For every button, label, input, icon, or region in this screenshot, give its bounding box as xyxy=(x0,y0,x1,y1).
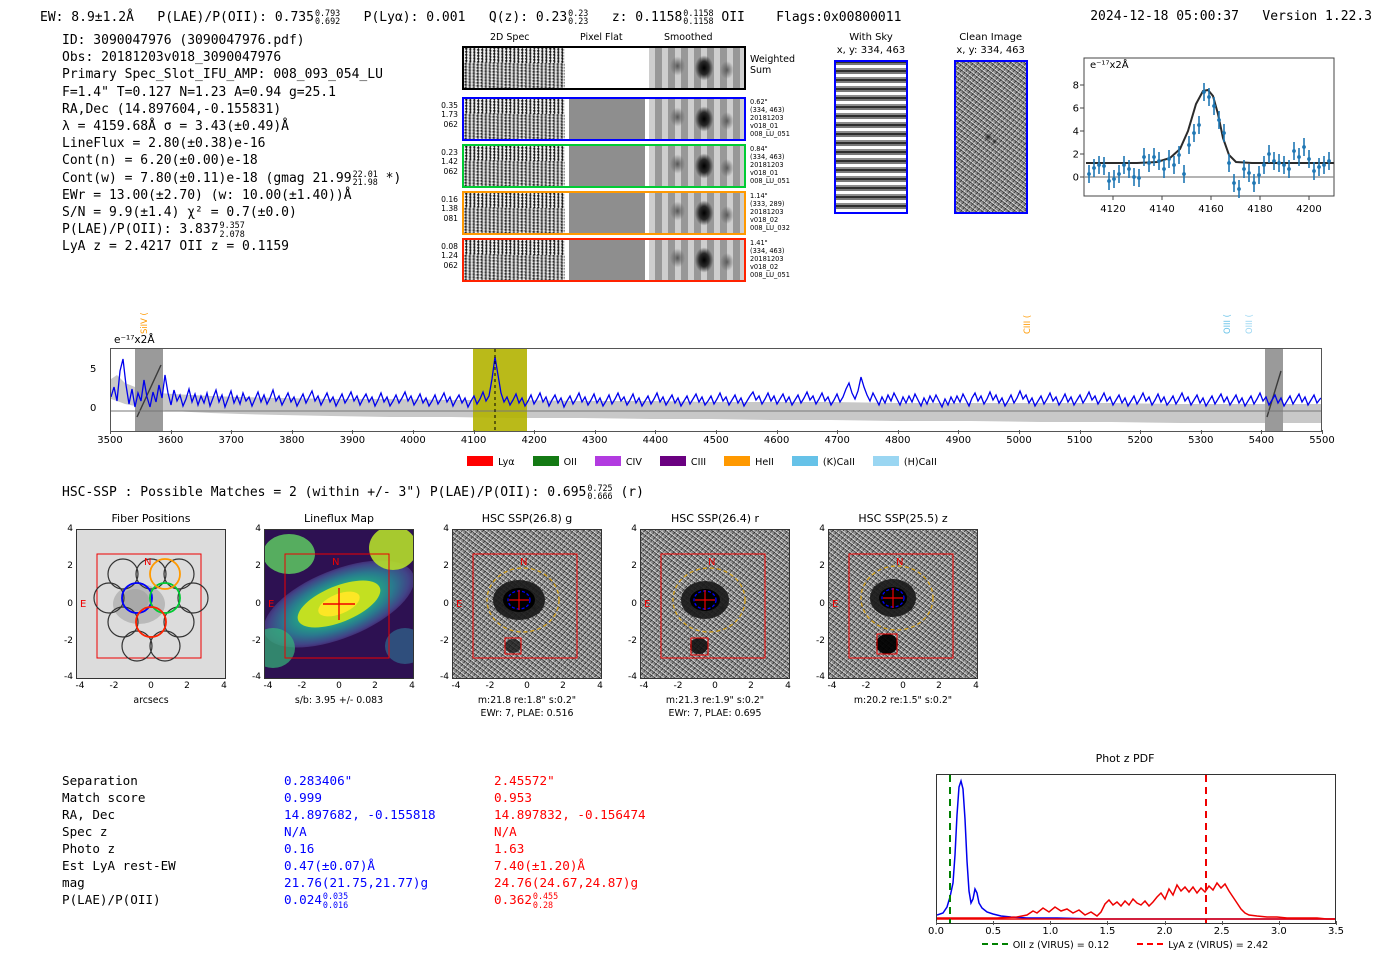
cutout-plot: N E 4 2 0 -2 -4 -4 -2 0 2 4 xyxy=(640,529,790,679)
match-candidate-1-column: 0.283406" 0.999 14.897682, -0.155818 N/A… xyxy=(284,772,509,908)
with-sky-title: With Sky xyxy=(822,32,920,45)
legend-label: CIV xyxy=(626,457,642,468)
spec2d-frame xyxy=(462,144,746,188)
fullspec-ytick-5: 5 xyxy=(90,364,96,375)
hsc-header-range: 0.7250.666 xyxy=(587,484,612,501)
svg-text:8: 8 xyxy=(1073,81,1079,92)
cutout-caption-1: m:21.3 re:1.9" s:0.2" xyxy=(620,695,810,708)
svg-text:6: 6 xyxy=(1073,104,1079,115)
emission-line-fit-plot: 02 468 412041404160 41804200 xyxy=(1042,52,1340,232)
emission-line-label: CIII ( xyxy=(1022,302,1031,334)
row-label-est-lya-ew: Est LyA rest-EW xyxy=(62,857,277,874)
cutout-xlabel: arcsecs xyxy=(56,695,246,708)
c2-photo-z: 1.63 xyxy=(494,840,734,857)
header-qz-range: 0.230.23 xyxy=(568,9,588,26)
legend-item: CIV xyxy=(595,456,642,468)
cutout-xtick: 2 xyxy=(552,681,574,691)
info-plae: P(LAE)/P(OII): 3.8379.3572.078 xyxy=(62,221,401,238)
c2-plae-range: 0.4550.28 xyxy=(533,892,558,909)
fullspec-xtick-mark xyxy=(1201,430,1202,434)
fiber-positions-svg xyxy=(77,530,226,679)
spec2d-frame xyxy=(462,97,746,141)
clean-image xyxy=(954,60,1028,214)
legend-label: Lyα xyxy=(498,457,514,468)
timestamp: 2024-12-18 05:00:37 xyxy=(1090,9,1239,24)
cutout-caption-1: s/b: 3.95 +/- 0.083 xyxy=(244,695,434,708)
north-marker: N xyxy=(332,557,339,568)
north-marker: N xyxy=(708,557,715,568)
c2-plae-value: 0.362 xyxy=(494,892,532,907)
spec2d-image-cell xyxy=(464,193,565,233)
fullspec-xtick: 5400 xyxy=(1243,435,1279,446)
clean-image-title: Clean Image xyxy=(942,32,1040,45)
cutout-plot: N E 4 2 0 -2 -4 -4 -2 0 2 4 xyxy=(76,529,226,679)
legend-label: CIII xyxy=(691,457,706,468)
fullspec-xtick-mark xyxy=(958,430,959,434)
photz-xtick-mark xyxy=(993,921,994,925)
legend-swatch xyxy=(467,456,493,466)
svg-text:4140: 4140 xyxy=(1149,204,1174,215)
fiber-metadata: 0.84" (334, 463) 20181203 v018_01 008_LU… xyxy=(750,145,790,185)
fullspec-xtick-mark xyxy=(837,430,838,434)
cutout-xtick: -2 xyxy=(667,681,689,691)
fullspec-xtick: 5000 xyxy=(1001,435,1037,446)
info-id: ID: 3090047976 (3090047976.pdf) xyxy=(62,32,401,49)
info-plae-prefix: P(LAE)/P(OII): 3.837 xyxy=(62,222,219,237)
cutout-ytick: 4 xyxy=(58,524,73,534)
photz-title: Phot z PDF xyxy=(910,752,1340,765)
header-z-range: 0.11580.1158 xyxy=(683,9,713,26)
with-sky-panel: With Sky x, y: 334, 463 xyxy=(822,32,920,214)
legend-item: HeII xyxy=(724,456,774,468)
smoothed-cell xyxy=(649,48,744,88)
fullspec-xtick: 4600 xyxy=(759,435,795,446)
row-label-separation: Separation xyxy=(62,772,277,789)
cutout-ytick: -2 xyxy=(810,636,825,646)
c2-ra-dec: 14.897832, -0.156474 xyxy=(494,806,734,823)
spec2d-frame xyxy=(462,46,746,90)
fullspec-xtick: 4900 xyxy=(940,435,976,446)
emission-line-label: SiIV ( xyxy=(139,302,148,334)
phot-z-pdf-plot: Phot z PDF 0.00.51.01.52.02.53.03.5 OII … xyxy=(910,752,1340,947)
fullspec-xtick: 4100 xyxy=(456,435,492,446)
cutout-lineflux-map: Lineflux Map xyxy=(244,512,434,708)
legend-item: (K)CaII xyxy=(792,456,855,468)
cutout-xtick: -4 xyxy=(633,681,655,691)
cutout-xtick: 4 xyxy=(213,681,235,691)
east-marker: E xyxy=(644,599,650,610)
c1-plae-value: 0.024 xyxy=(284,892,322,907)
legend-label: OII xyxy=(564,457,577,468)
photz-xtick: 0.0 xyxy=(920,926,952,937)
cutout-ytick: -2 xyxy=(58,636,73,646)
legend-item: Lyα xyxy=(467,456,514,468)
photz-xtick: 3.0 xyxy=(1263,926,1295,937)
fiber-stats: 0.35 1.73 062 xyxy=(426,101,458,129)
fullspec-xtick: 5200 xyxy=(1122,435,1158,446)
north-marker: N xyxy=(144,557,151,568)
fullspec-xtick-mark xyxy=(534,430,535,434)
photz-axes xyxy=(936,774,1336,924)
info-cont-w-range: 22.0121.98 xyxy=(353,170,378,187)
two-d-spectrum-panels: 2D Spec Pixel Flat Smoothed Weighted Sum… xyxy=(462,32,762,285)
row-label-match-score: Match score xyxy=(62,789,277,806)
cutout-hsc-r: HSC SSP(26.4) r N E 4 2 0 -2 xyxy=(620,512,810,720)
fullspec-xtick-mark xyxy=(292,430,293,434)
emission-line-label: OIII ( xyxy=(1244,302,1253,334)
photz-legend-label: OII z (VIRUS) = 0.12 xyxy=(1013,940,1110,951)
fullspec-xtick-mark xyxy=(1140,430,1141,434)
c1-est-lya-ew: 0.47(±0.07)Å xyxy=(284,857,509,874)
spec2d-row-fiber: 0.23 1.42 062 0.84" (334, 463) 20181203 … xyxy=(462,144,762,188)
cutout-frame xyxy=(76,529,226,679)
full-spectrum-svg xyxy=(111,349,1322,432)
detection-info-block: ID: 3090047976 (3090047976.pdf) Obs: 201… xyxy=(62,32,401,255)
cutout-xtick: 0 xyxy=(140,681,162,691)
cutout-frame xyxy=(640,529,790,679)
photz-svg xyxy=(937,775,1336,924)
report-header: EW: 8.9±1.2Å P(LAE)/P(OII): 0.7350.7930.… xyxy=(0,4,1400,26)
fullspec-xtick-mark xyxy=(474,430,475,434)
spec2d-row-weighted-sum: Weighted Sum xyxy=(462,46,762,90)
cutout-xtick: -2 xyxy=(103,681,125,691)
spec2d-column-titles: 2D Spec Pixel Flat Smoothed xyxy=(462,32,762,46)
east-marker: E xyxy=(268,599,274,610)
cutout-caption-1: m:20.2 re:1.5" s:0.2" xyxy=(808,695,998,708)
cutout-xtick: -4 xyxy=(821,681,843,691)
photz-legend-label: LyA z (VIRUS) = 2.42 xyxy=(1168,940,1268,951)
header-z-species: OII xyxy=(721,10,744,25)
info-plae-range: 9.3572.078 xyxy=(220,221,245,238)
east-marker: E xyxy=(456,599,462,610)
fullspec-xtick: 4000 xyxy=(395,435,431,446)
spec2d-frame xyxy=(462,191,746,235)
c2-spec-z: N/A xyxy=(494,823,734,840)
emission-line-legend: LyαOIICIVCIIIHeII(K)CaII(H)CaII xyxy=(62,456,1342,468)
info-obs: Obs: 20181203v018_3090047976 xyxy=(62,49,401,66)
cutout-plot: N E 4 2 0 -2 -4 -4 -2 0 2 4 xyxy=(264,529,414,679)
svg-text:2: 2 xyxy=(1073,150,1079,161)
with-sky-coords: x, y: 334, 463 xyxy=(822,45,920,58)
fullspec-ytick-0: 0 xyxy=(90,403,96,414)
hsc-ssp-match-header: HSC-SSP : Possible Matches = 2 (within +… xyxy=(62,484,644,501)
legend-item: OII xyxy=(533,456,577,468)
fullspec-xtick: 3900 xyxy=(334,435,370,446)
cutout-hsc-z: HSC SSP(25.5) z N E 4 2 0 -2 xyxy=(808,512,998,708)
fullspec-xtick: 5300 xyxy=(1183,435,1219,446)
c1-ra-dec: 14.897682, -0.155818 xyxy=(284,806,509,823)
c2-mag: 24.76(24.67,24.87)g xyxy=(494,874,734,891)
fullspec-xtick-mark xyxy=(777,430,778,434)
photz-xtick: 2.0 xyxy=(1149,926,1181,937)
with-sky-image xyxy=(834,60,908,214)
cutout-ytick: -2 xyxy=(246,636,261,646)
pixel-flat-cell xyxy=(569,146,644,186)
fullspec-xtick-mark xyxy=(171,430,172,434)
cutout-xtick: 2 xyxy=(740,681,762,691)
fullspec-xtick-mark xyxy=(898,430,899,434)
fullspec-xtick-mark xyxy=(716,430,717,434)
legend-swatch xyxy=(724,456,750,466)
info-cont-w-prefix: Cont(w) = 7.80(±0.11)e-18 (gmag 21.99 xyxy=(62,171,352,186)
cutout-ytick: 0 xyxy=(434,599,449,609)
pixel-flat-cell xyxy=(569,99,644,139)
cutout-ytick: 0 xyxy=(810,599,825,609)
cutout-xtick: -2 xyxy=(855,681,877,691)
cutout-ytick: 2 xyxy=(246,561,261,571)
spec2d-title-pixelflat: Pixel Flat xyxy=(580,32,623,43)
legend-label: HeII xyxy=(755,457,774,468)
row-label-spec-z: Spec z xyxy=(62,823,277,840)
cutout-title: HSC SSP(25.5) z xyxy=(808,512,998,529)
spec2d-image-cell xyxy=(464,146,565,186)
hsc-g-svg xyxy=(453,530,602,679)
emission-line-label: OIII ( xyxy=(1222,302,1231,334)
emission-line-labels: SiIV (OVI (HeII (SiIV (OIII (CIV (OIII (… xyxy=(110,270,1322,348)
fullspec-xtick: 4300 xyxy=(577,435,613,446)
cutout-xtick: -2 xyxy=(479,681,501,691)
photz-xtick-mark xyxy=(1107,921,1108,925)
c1-match-score: 0.999 xyxy=(284,789,509,806)
header-plae-range: 0.7930.692 xyxy=(315,9,340,26)
fiber-stats: 0.23 1.42 062 xyxy=(426,148,458,176)
spec2d-image-cell xyxy=(464,48,565,88)
cutout-title: HSC SSP(26.8) g xyxy=(432,512,622,529)
info-ewr: EWr = 13.00(±2.70) (w: 10.00(±1.40))Å xyxy=(62,187,401,204)
photz-xtick: 3.5 xyxy=(1320,926,1352,937)
cutout-ytick: 2 xyxy=(810,561,825,571)
svg-text:4160: 4160 xyxy=(1198,204,1223,215)
cutout-ytick: 2 xyxy=(622,561,637,571)
header-plae-label: P(LAE)/P(OII): xyxy=(157,10,267,25)
fiber-metadata: 1.14" (333, 289) 20181203 v018_02 008_LU… xyxy=(750,192,790,232)
cutout-xtick: -4 xyxy=(69,681,91,691)
fullspec-xtick-mark xyxy=(352,430,353,434)
cutout-ytick: 2 xyxy=(58,561,73,571)
version: Version 1.22.3 xyxy=(1262,9,1372,24)
match-table-labels: Separation Match score RA, Dec Spec z Ph… xyxy=(62,772,277,908)
cutout-title: HSC SSP(26.4) r xyxy=(620,512,810,529)
photz-legend-item: OII z (VIRUS) = 0.12 xyxy=(982,940,1110,951)
header-ew: EW: 8.9±1.2Å xyxy=(40,10,134,25)
fullspec-xtick-mark xyxy=(1019,430,1020,434)
fullspec-unit-label: e⁻¹⁷x2Å xyxy=(114,334,155,346)
fiber-metadata: 0.62" (334, 463) 20181203 v018_01 008_LU… xyxy=(750,98,790,138)
c1-photo-z: 0.16 xyxy=(284,840,509,857)
svg-text:4180: 4180 xyxy=(1247,204,1272,215)
svg-text:0: 0 xyxy=(1073,173,1079,184)
clean-image-coords: x, y: 334, 463 xyxy=(942,45,1040,58)
photz-xtick-mark xyxy=(936,921,937,925)
cutout-xtick: 2 xyxy=(364,681,386,691)
cutout-ytick: 0 xyxy=(58,599,73,609)
cutout-xtick: 4 xyxy=(401,681,423,691)
header-qz: Q(z): 0.23 xyxy=(489,10,567,25)
fullspec-xtick-mark xyxy=(110,430,111,434)
pixel-flat-cell xyxy=(569,48,644,88)
c1-plae-poii: 0.0240.0350.016 xyxy=(284,891,509,908)
pixel-flat-cell xyxy=(569,193,644,233)
fiber-image-panels: With Sky x, y: 334, 463 Clean Image x, y… xyxy=(822,32,1052,214)
hsc-z-svg xyxy=(829,530,978,679)
fullspec-xtick: 5100 xyxy=(1062,435,1098,446)
svg-text:4200: 4200 xyxy=(1296,204,1321,215)
info-sn-chi2: S/N = 9.9(±1.4) χ² = 0.7(±0.0) xyxy=(62,204,401,221)
fullspec-xtick: 3600 xyxy=(153,435,189,446)
cutout-xtick: 4 xyxy=(777,681,799,691)
c2-separation: 2.45572" xyxy=(494,772,734,789)
c2-est-lya-ew: 7.40(±1.20)Å xyxy=(494,857,734,874)
legend-label: (H)CaII xyxy=(904,457,937,468)
legend-swatch xyxy=(792,456,818,466)
cutout-ytick: 0 xyxy=(622,599,637,609)
cutout-xtick: 0 xyxy=(516,681,538,691)
fullspec-xtick-mark xyxy=(655,430,656,434)
info-lineflux: LineFlux = 2.80(±0.38)e-16 xyxy=(62,135,401,152)
linefit-svg: 02 468 412041404160 41804200 xyxy=(1042,52,1340,232)
fullspec-xtick-mark xyxy=(1080,430,1081,434)
fullspec-xtick: 5500 xyxy=(1304,435,1340,446)
photz-xtick-mark xyxy=(1222,921,1223,925)
fiber-stats: 0.16 1.38 081 xyxy=(426,195,458,223)
linefit-unit-label: e⁻¹⁷x2Å xyxy=(1090,60,1129,71)
photz-xtick-mark xyxy=(1279,921,1280,925)
photz-xtick: 0.5 xyxy=(977,926,1009,937)
fullspec-xtick: 3500 xyxy=(92,435,128,446)
cutout-frame xyxy=(264,529,414,679)
legend-item: CIII xyxy=(660,456,706,468)
cutout-xtick: -4 xyxy=(445,681,467,691)
info-redshifts: LyA z = 2.4217 OII z = 0.1159 xyxy=(62,238,401,255)
header-timestamp-version: 2024-12-18 05:00:37 Version 1.22.3 xyxy=(1090,9,1372,24)
photz-xtick: 1.5 xyxy=(1091,926,1123,937)
c2-plae-poii: 0.3620.4550.28 xyxy=(494,891,734,908)
cutout-fiber-positions: Fiber Positions xyxy=(56,512,246,708)
fullspec-xtick: 4500 xyxy=(698,435,734,446)
cutout-xtick: 2 xyxy=(928,681,950,691)
cutout-ytick: 4 xyxy=(434,524,449,534)
c1-mag: 21.76(21.75,21.77)g xyxy=(284,874,509,891)
row-label-plae-poii: P(LAE)/P(OII) xyxy=(62,891,277,908)
info-cont-n: Cont(n) = 6.20(±0.00)e-18 xyxy=(62,152,401,169)
header-plae-value: 0.735 xyxy=(275,10,314,25)
header-plya: P(Lyα): 0.001 xyxy=(364,10,466,25)
fullspec-xtick-mark xyxy=(1322,430,1323,434)
cutout-xtick: 0 xyxy=(704,681,726,691)
photz-legend-dash xyxy=(1137,943,1163,945)
cutout-ytick: 0 xyxy=(246,599,261,609)
photz-xtick: 1.0 xyxy=(1034,926,1066,937)
cutout-ytick: 4 xyxy=(246,524,261,534)
hsc-header-prefix: HSC-SSP : Possible Matches = 2 (within +… xyxy=(62,485,586,500)
fullspec-xtick-mark xyxy=(595,430,596,434)
cutout-title: Lineflux Map xyxy=(244,512,434,529)
photz-xtick-mark xyxy=(1336,921,1337,925)
legend-label: (K)CaII xyxy=(823,457,855,468)
legend-item: (H)CaII xyxy=(873,456,937,468)
cutout-hsc-g: HSC SSP(26.8) g N E 4 2 0 -2 xyxy=(432,512,622,720)
north-marker: N xyxy=(520,557,527,568)
fullspec-xtick: 4200 xyxy=(516,435,552,446)
fiber-stats: 0.08 1.24 062 xyxy=(426,242,458,270)
cutout-xtick: 0 xyxy=(892,681,914,691)
fullspec-xtick: 4400 xyxy=(637,435,673,446)
info-wavelength: λ = 4159.68Å σ = 3.43(±0.49)Å xyxy=(62,118,401,135)
header-flags: Flags:0x00800011 xyxy=(776,10,901,25)
cutout-frame xyxy=(828,529,978,679)
cutout-xtick: 2 xyxy=(176,681,198,691)
full-spectrum-plot: SiIV (OVI (HeII (SiIV (OIII (CIV (OIII (… xyxy=(62,270,1342,470)
cutout-caption-1: m:21.8 re:1.8" s:0.2" xyxy=(432,695,622,708)
photz-legend-item: LyA z (VIRUS) = 2.42 xyxy=(1137,940,1268,951)
c1-separation: 0.283406" xyxy=(284,772,509,789)
cutout-ytick: 4 xyxy=(810,524,825,534)
fullspec-xtick-mark xyxy=(231,430,232,434)
row-label-mag: mag xyxy=(62,874,277,891)
spec2d-row-fiber: 0.16 1.38 081 1.14" (333, 289) 20181203 … xyxy=(462,191,762,235)
cutout-xtick: -4 xyxy=(257,681,279,691)
info-spec-slot: Primary Spec_Slot_IFU_AMP: 008_093_054_L… xyxy=(62,66,401,83)
fullspec-xtick: 4800 xyxy=(880,435,916,446)
full-spectrum-axes xyxy=(110,348,1322,432)
weighted-sum-label: Weighted Sum xyxy=(750,54,795,76)
legend-swatch xyxy=(873,456,899,466)
hsc-r-svg xyxy=(641,530,790,679)
match-candidate-2-column: 2.45572" 0.953 14.897832, -0.156474 N/A … xyxy=(494,772,734,908)
cutout-plot: N E 4 2 0 -2 -4 -4 -2 0 2 4 xyxy=(452,529,602,679)
photz-legend: OII z (VIRUS) = 0.12LyA z (VIRUS) = 2.42 xyxy=(910,940,1340,951)
svg-text:4: 4 xyxy=(1073,127,1079,138)
cutout-plot: N E 4 2 0 -2 -4 -4 -2 0 2 4 xyxy=(828,529,978,679)
svg-text:4120: 4120 xyxy=(1100,204,1125,215)
cutout-ytick: -2 xyxy=(434,636,449,646)
cutout-xtick: 0 xyxy=(328,681,350,691)
info-seeing: F=1.4" T=0.127 N=1.23 A=0.94 g=25.1 xyxy=(62,84,401,101)
legend-swatch xyxy=(533,456,559,466)
info-cont-w: Cont(w) = 7.80(±0.11)e-18 (gmag 21.9922.… xyxy=(62,170,401,187)
header-z: z: 0.1158 xyxy=(612,10,682,25)
clean-image-panel: Clean Image x, y: 334, 463 xyxy=(942,32,1040,214)
fullspec-xtick: 3700 xyxy=(213,435,249,446)
photz-x-tick-labels: 0.00.51.01.52.02.53.03.5 xyxy=(936,926,1336,940)
cutout-xtick: 4 xyxy=(965,681,987,691)
cutout-xtick: -2 xyxy=(291,681,313,691)
header-summary: EW: 8.9±1.2Å P(LAE)/P(OII): 0.7350.7930.… xyxy=(40,9,901,26)
cutout-caption-2: EWr: 7, PLAE: 0.695 xyxy=(620,708,810,721)
spec2d-image-cell xyxy=(464,99,565,139)
north-marker: N xyxy=(896,557,903,568)
fullspec-xtick: 3800 xyxy=(274,435,310,446)
fullspec-xtick: 4700 xyxy=(819,435,855,446)
row-label-photo-z: Photo z xyxy=(62,840,277,857)
row-label-ra-dec: RA, Dec xyxy=(62,806,277,823)
cutout-caption-2: EWr: 7, PLAE: 0.516 xyxy=(432,708,622,721)
fullspec-xtick-mark xyxy=(1261,430,1262,434)
fullspec-xtick-mark xyxy=(413,430,414,434)
legend-swatch xyxy=(595,456,621,466)
photz-xtick: 2.5 xyxy=(1206,926,1238,937)
fullspec-x-tick-labels: 3500360037003800390040004100420043004400… xyxy=(110,435,1322,451)
spec2d-row-fiber: 0.35 1.73 062 0.62" (334, 463) 20181203 … xyxy=(462,97,762,141)
cutout-title: Fiber Positions xyxy=(56,512,246,529)
smoothed-cell xyxy=(649,99,744,139)
cutout-ytick: 4 xyxy=(622,524,637,534)
hsc-header-suffix: (r) xyxy=(620,485,643,500)
cutout-ytick: -2 xyxy=(622,636,637,646)
cutout-xtick: 4 xyxy=(589,681,611,691)
cutout-frame xyxy=(452,529,602,679)
photz-xtick-mark xyxy=(1165,921,1166,925)
